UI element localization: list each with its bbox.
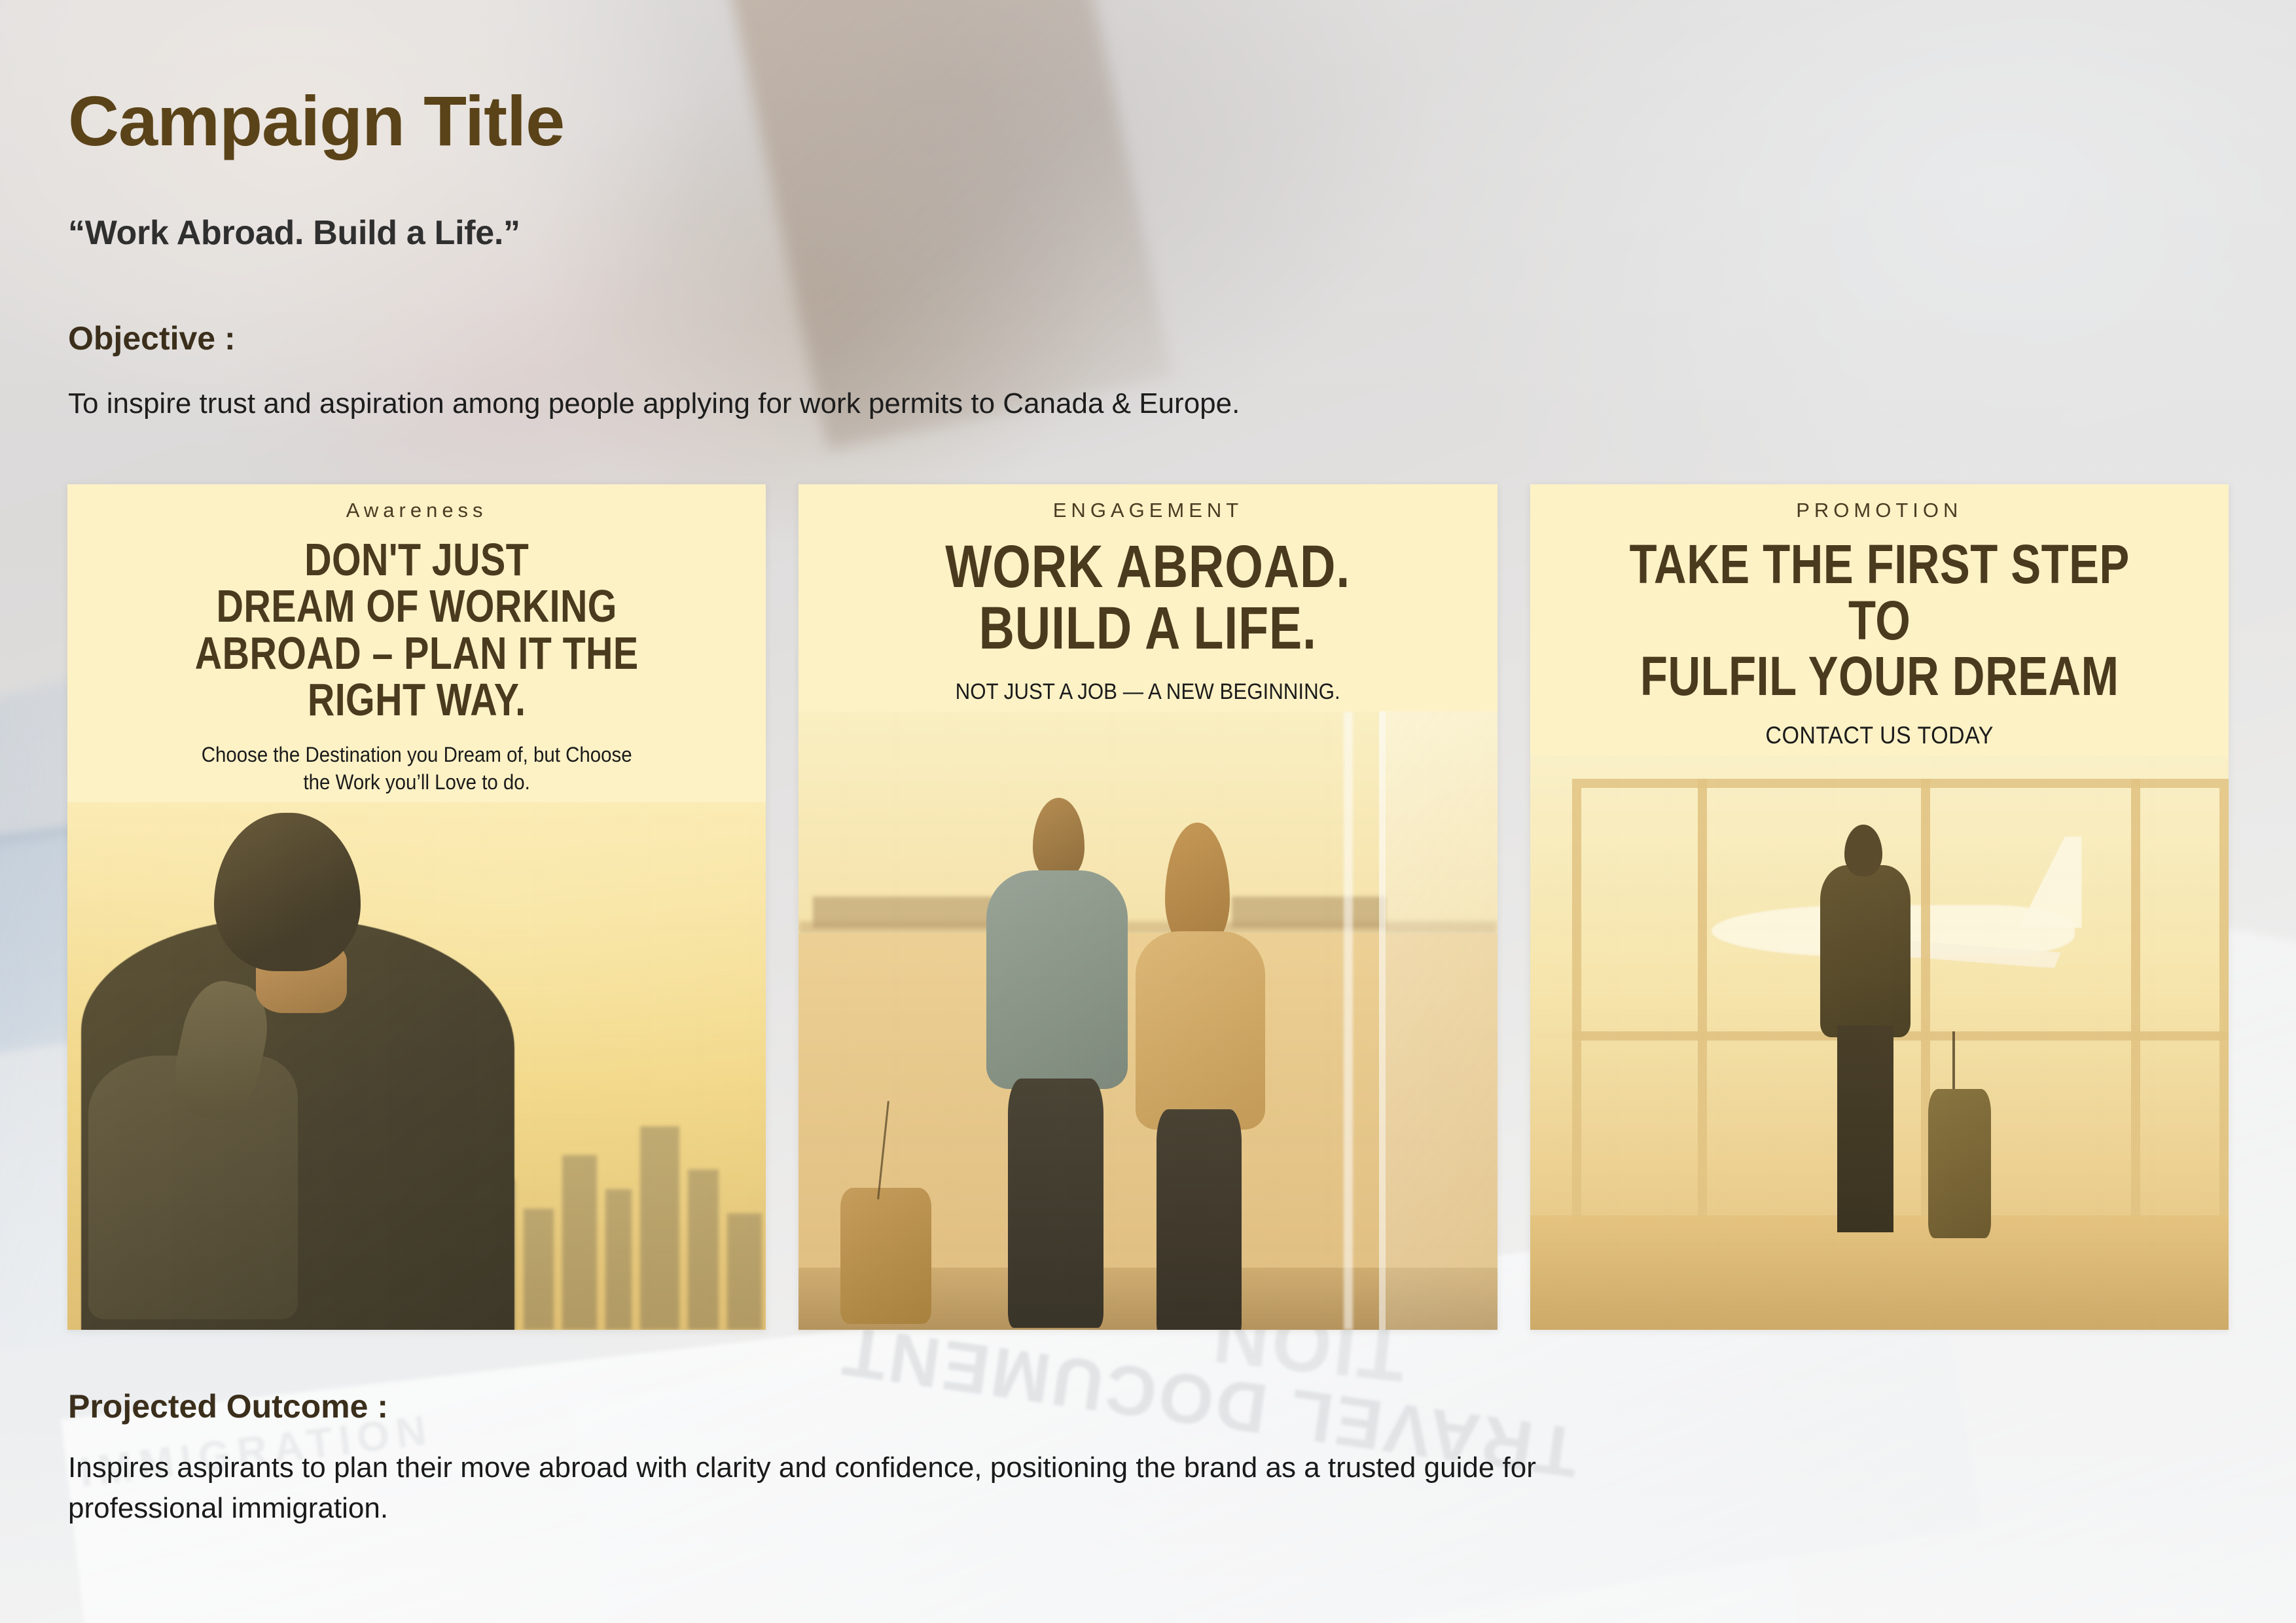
- campaign-tagline: “Work Abroad. Build a Life.”: [68, 213, 520, 253]
- photo-3-man-torso: [1820, 865, 1911, 1037]
- campaign-slide: TRAVEL DOCUMENT TION IMMIGRATION Campaig…: [0, 0, 2296, 1623]
- poster-subtext-promotion: CONTACT US TODAY: [1579, 722, 2180, 749]
- photo-2-window-mullion: [1344, 711, 1353, 1330]
- poster-photo-man-walking-with-suitcase-toward-airplane: [1530, 756, 2229, 1330]
- photo-3-window-bar-right: [2131, 779, 2140, 1226]
- poster-headline-engagement: WORK ABROAD. BUILD A LIFE.: [880, 537, 1416, 660]
- objective-text: To inspire trust and aspiration among pe…: [68, 387, 1240, 420]
- poster-photo-couple-at-airport-window-with-suitcase: [798, 711, 1497, 1330]
- photo-2-woman-legs: [1157, 1109, 1242, 1330]
- slide-content: Campaign Title “Work Abroad. Build a Lif…: [0, 0, 2296, 1623]
- poster-card-1-text-block: Awareness DON'T JUST DREAM OF WORKING AB…: [67, 484, 766, 796]
- page-title: Campaign Title: [68, 84, 564, 158]
- poster-card-2-text-block: ENGAGEMENT WORK ABROAD. BUILD A LIFE. NO…: [798, 484, 1497, 705]
- poster-subtext-engagement: NOT JUST A JOB — A NEW BEGINNING.: [847, 679, 1448, 705]
- photo-2-woman-figure: [1127, 823, 1274, 1317]
- poster-card-3-text-block: PROMOTION TAKE THE FIRST STEP TO FULFIL …: [1530, 484, 2229, 749]
- poster-headline-awareness: DON'T JUST DREAM OF WORKING ABROAD – PLA…: [149, 537, 685, 724]
- poster-photo-man-with-backpack-city-skyline: [67, 802, 766, 1330]
- poster-headline-promotion: TAKE THE FIRST STEP TO FULFIL YOUR DREAM: [1611, 537, 2147, 705]
- photo-2-man-torso: [986, 870, 1128, 1089]
- photo-3-suitcase-handle: [1952, 1031, 1955, 1094]
- photo-2-man-head: [1033, 798, 1085, 881]
- photo-3-man-legs: [1837, 1026, 1893, 1232]
- photo-3-suitcase: [1928, 1089, 1991, 1238]
- photo-2-suitcase: [840, 1188, 931, 1324]
- photo-3-man-head: [1844, 825, 1882, 876]
- photo-2-man-figure: [980, 798, 1134, 1317]
- projected-outcome-label: Projected Outcome :: [68, 1387, 388, 1425]
- poster-subtext-awareness: Choose the Destination you Dream of, but…: [116, 741, 717, 796]
- poster-kicker-awareness: Awareness: [90, 499, 744, 522]
- photo-3-window-bar-left: [1698, 779, 1707, 1226]
- poster-kicker-engagement: ENGAGEMENT: [821, 499, 1475, 522]
- photo-2-woman-torso: [1136, 931, 1265, 1130]
- poster-card-engagement[interactable]: ENGAGEMENT WORK ABROAD. BUILD A LIFE. NO…: [798, 484, 1497, 1330]
- photo-3-terminal-floor: [1530, 1215, 2229, 1330]
- projected-outcome-text: Inspires aspirants to plan their move ab…: [68, 1448, 1691, 1529]
- poster-kicker-promotion: PROMOTION: [1552, 499, 2206, 522]
- poster-card-group: Awareness DON'T JUST DREAM OF WORKING AB…: [67, 484, 2229, 1330]
- photo-2-man-legs: [1008, 1079, 1103, 1328]
- poster-card-awareness[interactable]: Awareness DON'T JUST DREAM OF WORKING AB…: [67, 484, 766, 1330]
- objective-label: Objective :: [68, 319, 236, 357]
- photo-2-glass-pane: [1379, 711, 1498, 1330]
- poster-card-promotion[interactable]: PROMOTION TAKE THE FIRST STEP TO FULFIL …: [1530, 484, 2229, 1330]
